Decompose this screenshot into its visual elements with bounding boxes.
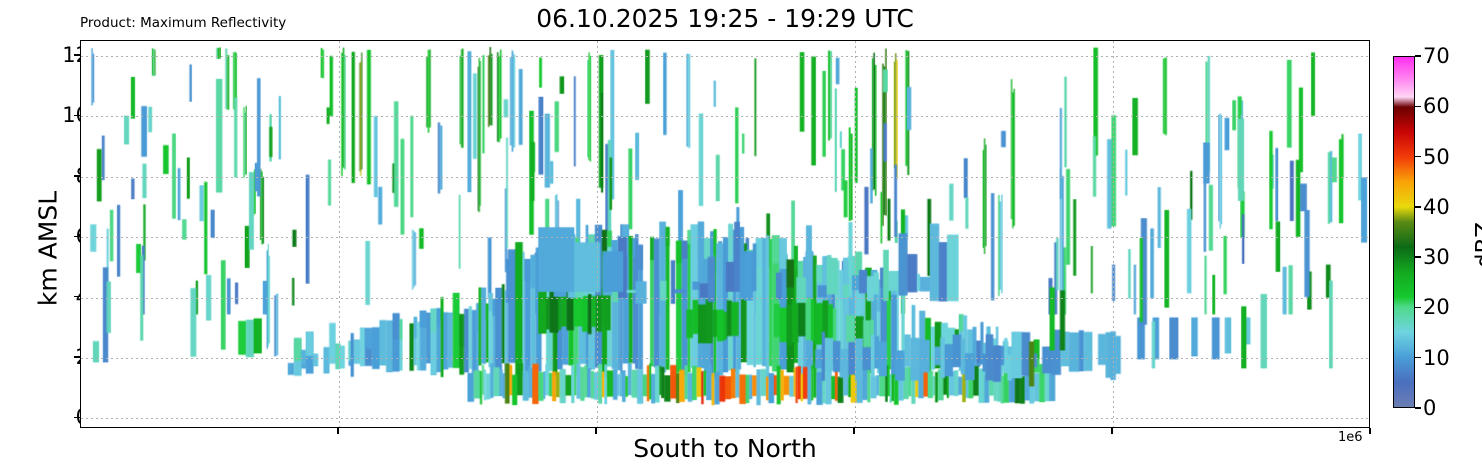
- colorbar-tick-mark: [1415, 357, 1421, 358]
- colorbar-tick-mark: [1415, 106, 1421, 107]
- colorbar-tick-mark: [1415, 206, 1421, 207]
- colorbar-tick-mark: [1415, 256, 1421, 257]
- colorbar-tick-label: 40: [1423, 195, 1450, 219]
- colorbar-tick-mark: [1415, 156, 1421, 157]
- colorbar-tick-label: 70: [1423, 44, 1450, 68]
- radar-cross-section-figure: 06.10.2025 19:25 - 19:29 UTC Product: Ma…: [0, 0, 1482, 470]
- colorbar: [1393, 56, 1415, 408]
- product-annotation: Product: Maximum Reflectivity: [80, 15, 286, 31]
- colorbar-tick-mark: [1415, 55, 1421, 56]
- colorbar-tick-mark: [1415, 307, 1421, 308]
- colorbar-tick-label: 10: [1423, 346, 1450, 370]
- colorbar-label: dBZ: [1472, 185, 1482, 305]
- colorbar-tick-label: 20: [1423, 295, 1450, 319]
- colorbar-tick-mark: [1415, 407, 1421, 408]
- colorbar-tick-label: 30: [1423, 245, 1450, 269]
- reflectivity-heatmap: [81, 41, 1369, 427]
- colorbar-gradient: [1393, 56, 1415, 408]
- colorbar-tick-label: 50: [1423, 145, 1450, 169]
- y-axis-label: km AMSL: [34, 149, 63, 349]
- x-axis-offset-text: 1e6: [1338, 430, 1363, 445]
- plot-area: [80, 40, 1370, 428]
- colorbar-tick-label: 0: [1423, 396, 1436, 420]
- x-axis-label: South to North: [80, 434, 1370, 463]
- colorbar-tick-label: 60: [1423, 94, 1450, 118]
